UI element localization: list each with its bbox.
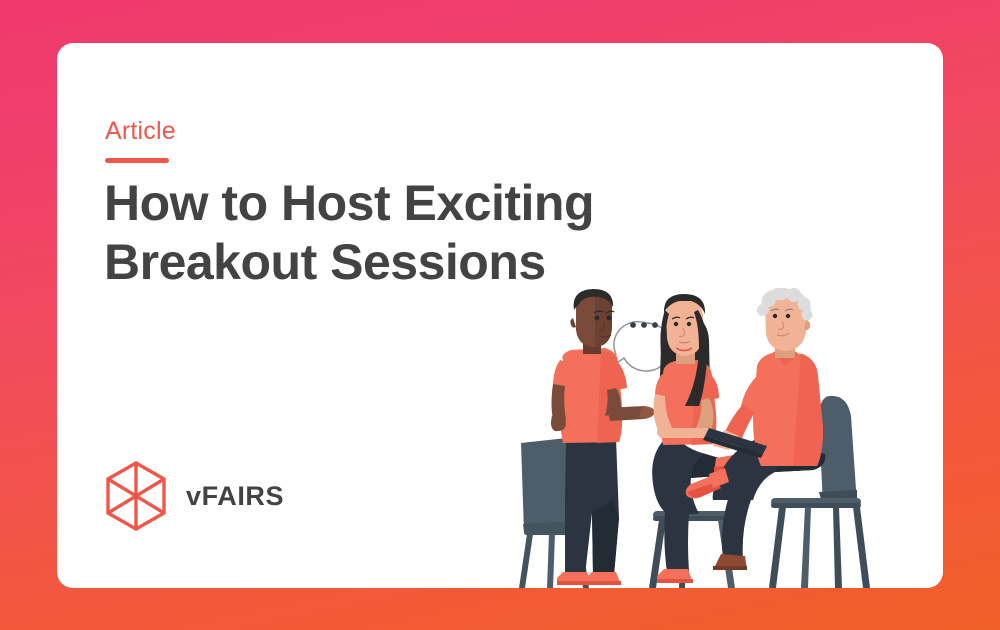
category-label: Article	[105, 119, 176, 144]
bubble-dot	[630, 322, 636, 328]
breakout-session-people-illustration	[513, 288, 943, 588]
eye	[595, 316, 600, 321]
hexagon-cube-icon	[105, 461, 167, 531]
bubble-dot	[652, 322, 658, 328]
brand-name: vFAIRS	[186, 483, 284, 510]
category-block: Article	[105, 119, 176, 163]
eye	[786, 314, 790, 318]
eye	[674, 322, 678, 326]
brand-logo: vFAIRS	[105, 461, 284, 531]
eye	[687, 322, 691, 326]
eye	[607, 316, 612, 321]
content-card: Article How to Host Exciting Breakout Se…	[57, 43, 943, 588]
eye	[773, 314, 777, 318]
category-underline-rule	[105, 158, 169, 163]
page-title: How to Host Exciting Breakout Sessions	[104, 174, 624, 292]
bubble-dot	[641, 322, 647, 328]
poster-canvas: Article How to Host Exciting Breakout Se…	[0, 0, 1000, 630]
